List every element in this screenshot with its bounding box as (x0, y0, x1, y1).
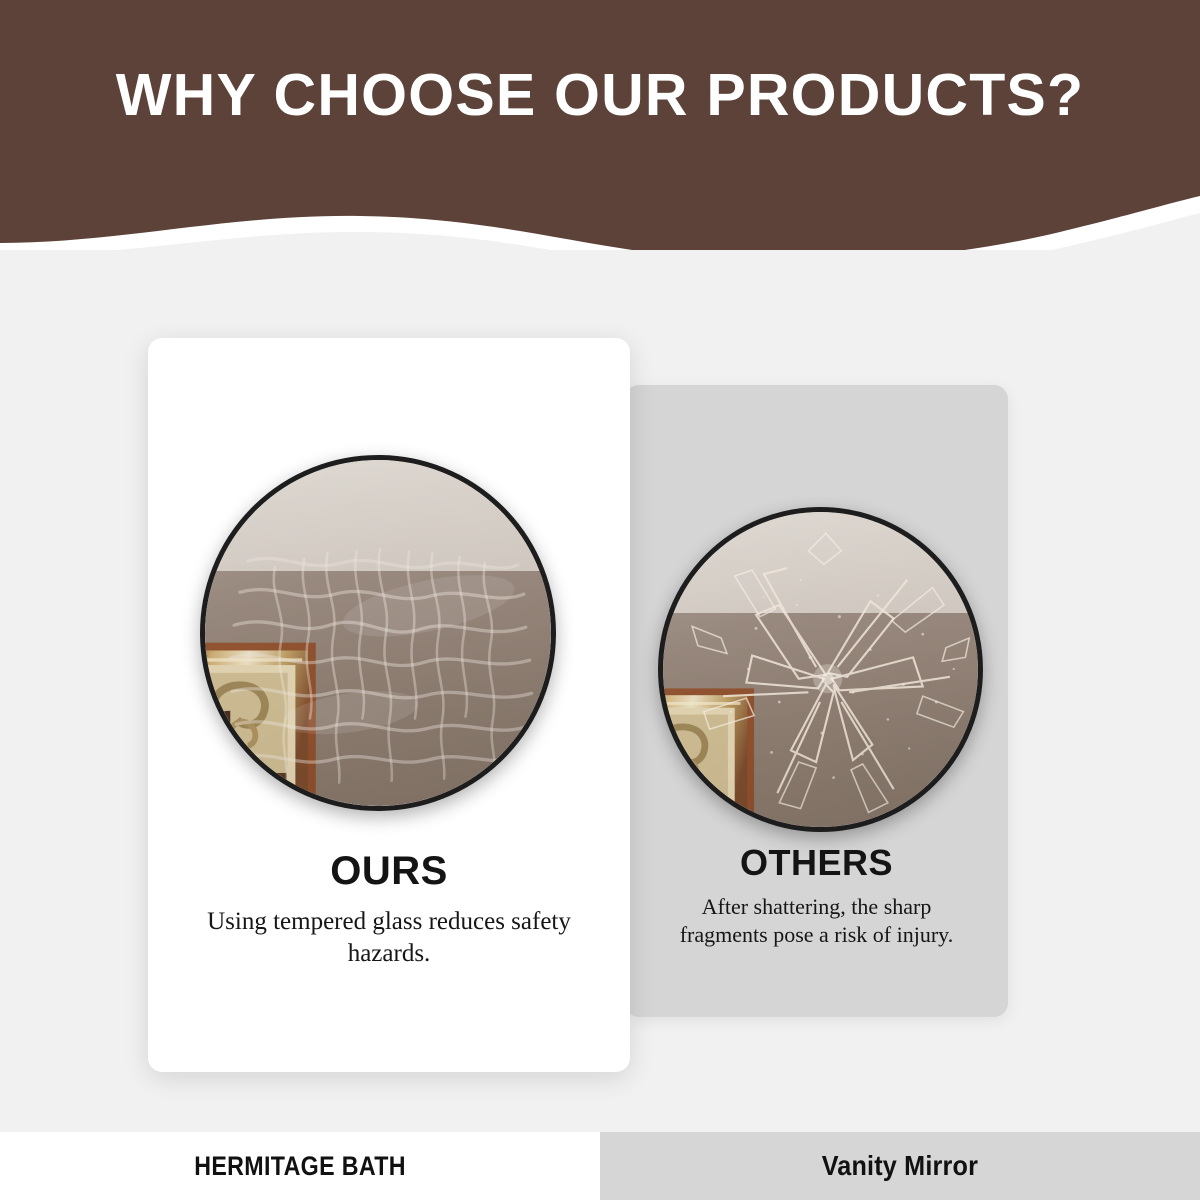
card-description-ours: Using tempered glass reduces safety haza… (148, 906, 630, 970)
round-mirror-intact-icon (200, 455, 556, 811)
shattered-glass-reflection (663, 512, 978, 827)
round-mirror-shattered-icon (658, 507, 983, 832)
footer-brand-cell: HERMITAGE BATH (0, 1132, 600, 1200)
infographic-canvas: WHY CHOOSE OUR PRODUCTS? (0, 0, 1200, 1200)
footer-bar: HERMITAGE BATH Vanity Mirror (0, 1132, 1200, 1200)
textured-glass-reflection (205, 460, 551, 806)
product-name: Vanity Mirror (822, 1150, 978, 1182)
card-heading-others: OTHERS (625, 845, 1008, 881)
card-description-others: After shattering, the sharp fragments po… (625, 893, 1008, 949)
brand-name: HERMITAGE BATH (194, 1151, 406, 1182)
mirror-glass-surface (205, 460, 551, 806)
page-title: WHY CHOOSE OUR PRODUCTS? (0, 66, 1200, 125)
mirror-glass-surface (663, 512, 978, 827)
footer-product-cell: Vanity Mirror (600, 1132, 1200, 1200)
comparison-card-others: OTHERS After shattering, the sharp fragm… (625, 385, 1008, 1017)
card-heading-ours: OURS (148, 851, 630, 891)
header-banner: WHY CHOOSE OUR PRODUCTS? (0, 0, 1200, 250)
comparison-card-ours: OURS Using tempered glass reduces safety… (148, 338, 630, 1072)
